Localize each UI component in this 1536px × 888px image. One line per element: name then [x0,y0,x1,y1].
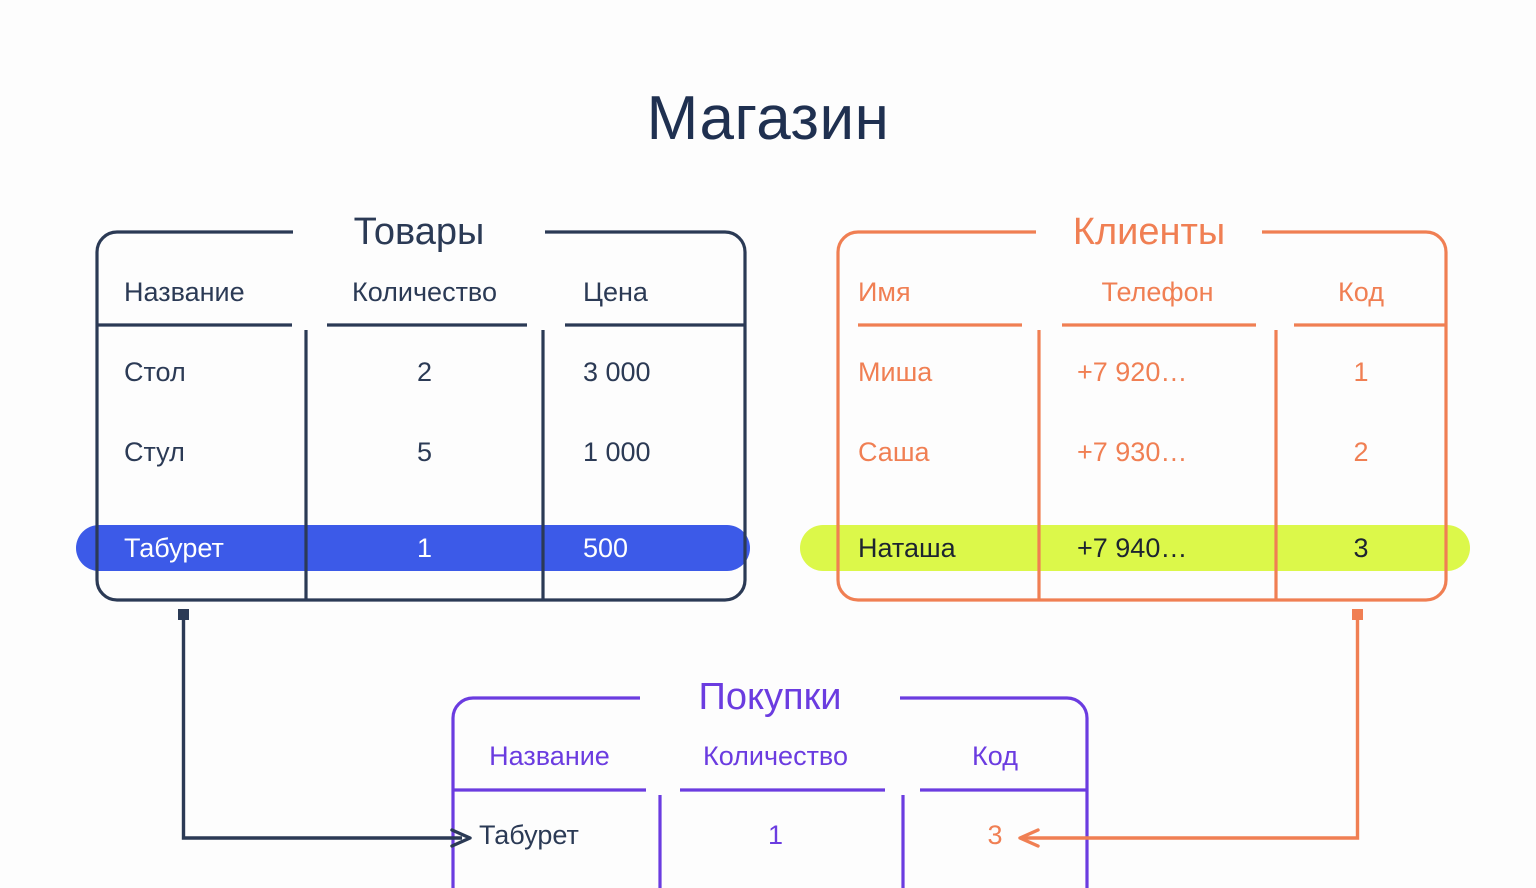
clients-row-3-code[interactable]: 3 [1276,535,1446,562]
purchases-row-1-code: 3 [920,822,1070,849]
products-row-2-price: 1 000 [583,439,743,466]
products-header-qty: Количество [306,279,543,306]
diagram-canvas: Магазин [0,0,1536,888]
products-row-2-qty: 5 [306,439,543,466]
purchases-header-qty: Количество [673,743,878,770]
products-row-1-price: 3 000 [583,359,743,386]
clients-table-caption: Клиенты [1036,213,1262,251]
products-header-name: Название [124,279,314,306]
purchases-header-name: Название [453,743,646,770]
clients-row-1-code: 1 [1276,359,1446,386]
clients-row-1-phone: +7 920… [1077,359,1267,386]
clients-row-1-name: Миша [858,359,1028,386]
products-row-3-qty[interactable]: 1 [306,535,543,562]
connector-clients-path [1024,616,1358,838]
clients-row-3-phone[interactable]: +7 940… [1077,535,1267,562]
products-header-price: Цена [583,279,743,306]
connector-clients-to-purchases [1020,609,1363,846]
products-row-3-name[interactable]: Табурет [124,535,304,562]
products-row-2-name: Стул [124,439,304,466]
purchases-table-frame [453,698,1087,888]
connector-products-arrowhead [452,830,470,846]
products-row-1-qty: 2 [306,359,543,386]
products-table-caption: Товары [293,213,545,251]
page-title: Магазин [0,88,1536,150]
clients-row-2-name: Саша [858,439,1028,466]
connector-products-to-purchases [178,609,470,846]
connector-products-origin-dot [178,609,189,620]
purchases-header-code: Код [920,743,1070,770]
products-row-1-name: Стол [124,359,304,386]
clients-row-2-phone: +7 930… [1077,439,1267,466]
clients-header-code: Код [1276,279,1446,306]
clients-header-phone: Телефон [1039,279,1276,306]
products-row-3-price[interactable]: 500 [583,535,743,562]
purchases-row-1-name: Табурет [479,822,659,849]
purchases-row-1-qty: 1 [673,822,878,849]
connector-clients-origin-dot [1352,609,1363,620]
clients-row-3-name[interactable]: Наташа [858,535,1038,562]
purchases-table-caption: Покупки [640,678,900,716]
clients-header-name: Имя [858,279,1028,306]
clients-row-2-code: 2 [1276,439,1446,466]
connector-products-path [184,616,463,838]
